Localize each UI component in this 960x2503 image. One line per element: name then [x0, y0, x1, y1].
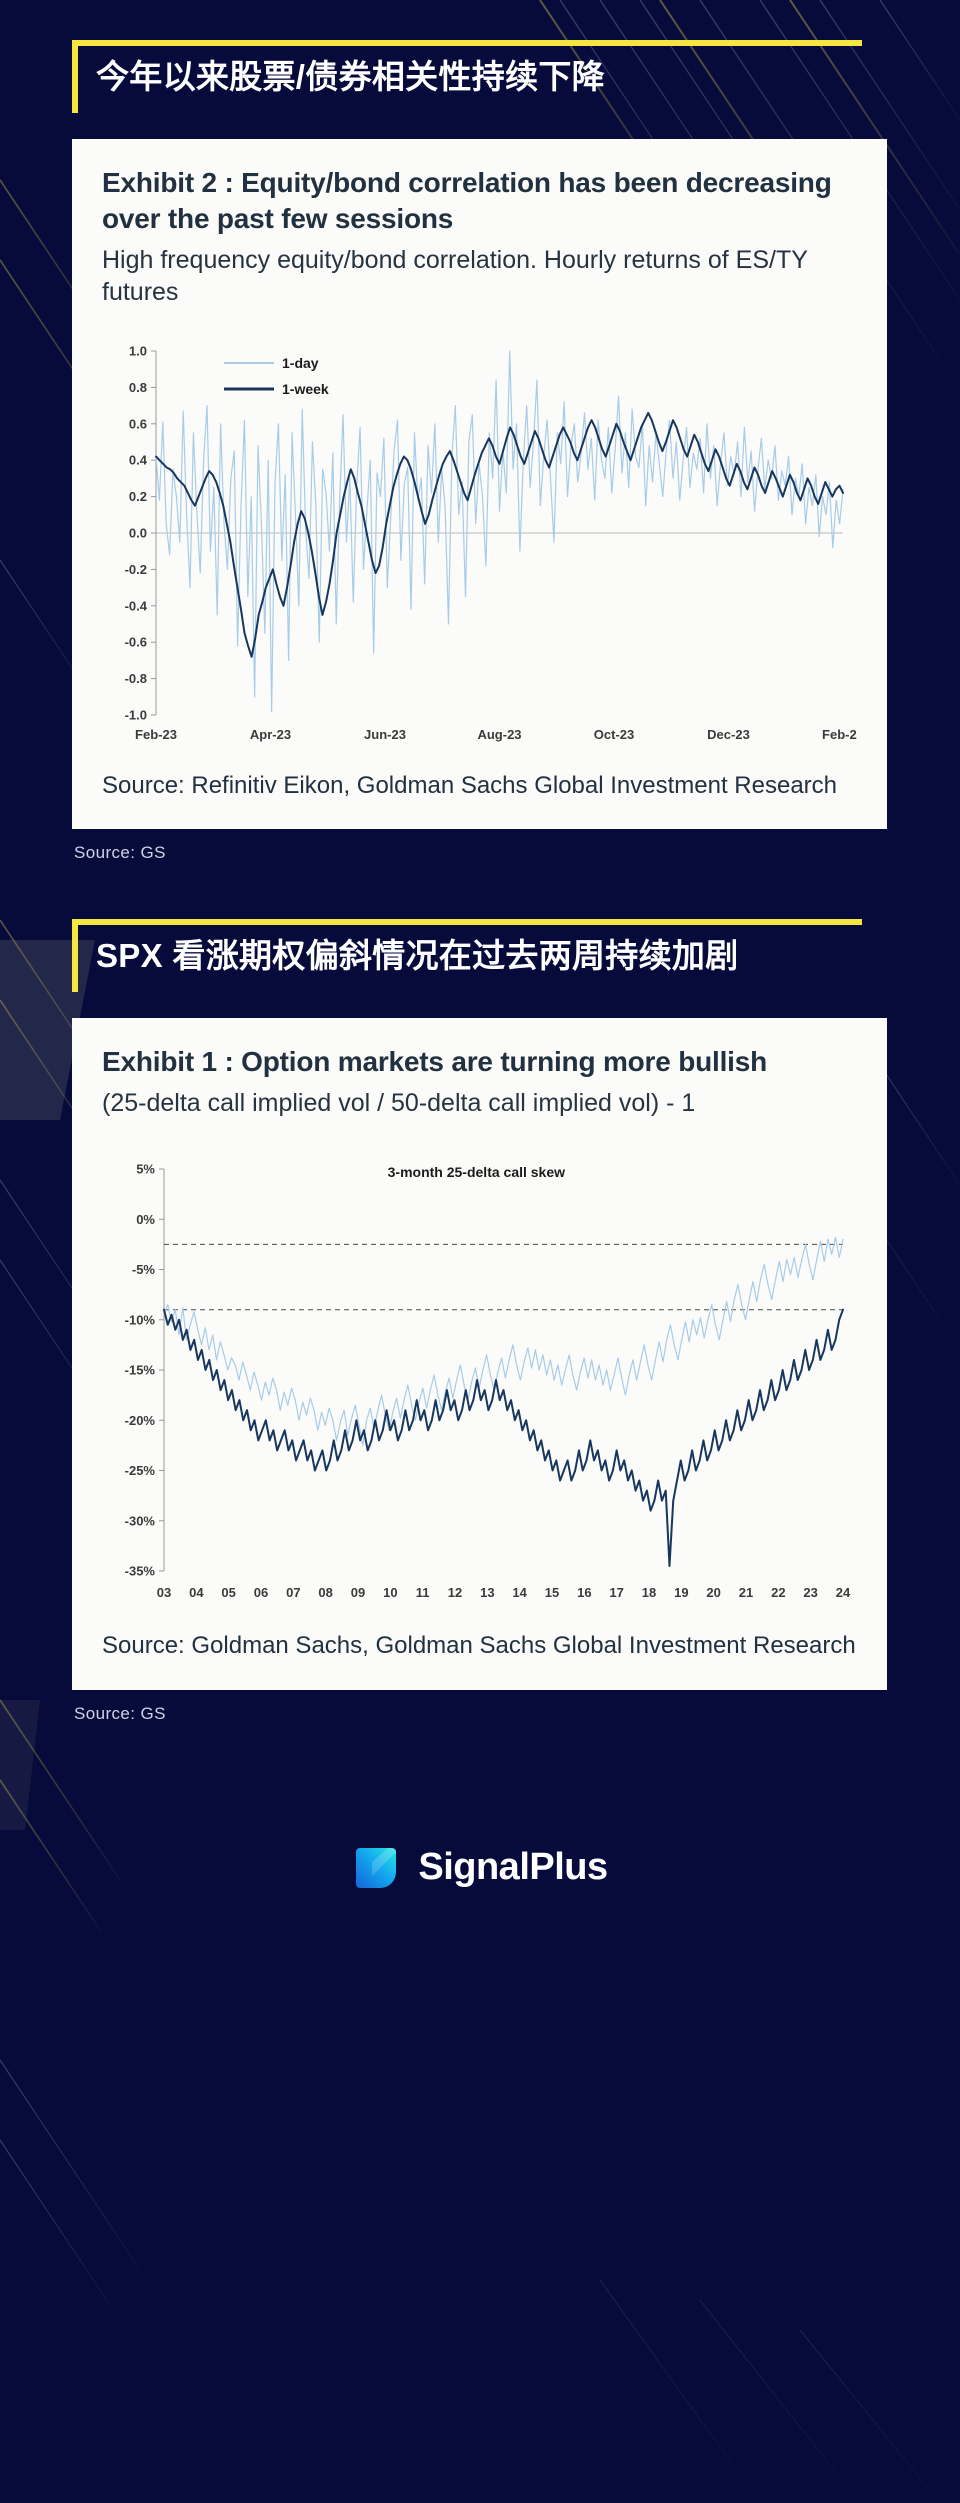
svg-text:08: 08	[318, 1585, 332, 1600]
svg-text:11: 11	[416, 1585, 430, 1600]
section-headline-1: 今年以来股票/债券相关性持续下降	[72, 40, 862, 113]
svg-text:-35%: -35%	[125, 1564, 156, 1579]
svg-text:10: 10	[383, 1585, 397, 1600]
svg-text:Jun-23: Jun-23	[364, 727, 406, 742]
brand-name: SignalPlus	[418, 1846, 607, 1889]
svg-text:0.4: 0.4	[129, 452, 148, 467]
headline-text: 今年以来股票/债券相关性持续下降	[96, 54, 862, 101]
svg-text:-25%: -25%	[125, 1463, 156, 1478]
signalplus-logo-icon	[352, 1842, 404, 1894]
svg-text:0.6: 0.6	[129, 416, 147, 431]
svg-text:-30%: -30%	[125, 1513, 156, 1528]
svg-text:07: 07	[286, 1585, 300, 1600]
svg-text:0.8: 0.8	[129, 380, 147, 395]
chart-canvas: 5%0%-5%-10%-15%-20%-25%-30%-35%030405060…	[102, 1145, 857, 1615]
exhibit-2-subtitle: High frequency equity/bond correlation. …	[102, 244, 857, 309]
svg-text:04: 04	[189, 1585, 204, 1600]
svg-text:3-month 25-delta call skew: 3-month 25-delta call skew	[388, 1164, 566, 1180]
svg-text:12: 12	[448, 1585, 462, 1600]
exhibit-1-source: Source: Goldman Sachs, Goldman Sachs Glo…	[102, 1631, 857, 1662]
source-note-2: Source: GS	[74, 1704, 960, 1724]
svg-text:-10%: -10%	[125, 1312, 156, 1327]
svg-text:1.0: 1.0	[129, 343, 147, 358]
section-equity-bond: 今年以来股票/债券相关性持续下降 Exhibit 2 : Equity/bond…	[0, 40, 960, 863]
svg-text:24: 24	[836, 1585, 851, 1600]
exhibit-1-card: Exhibit 1 : Option markets are turning m…	[72, 1018, 887, 1690]
svg-text:1-day: 1-day	[282, 355, 319, 371]
svg-text:-0.4: -0.4	[125, 598, 148, 613]
svg-text:-20%: -20%	[125, 1413, 156, 1428]
exhibit-1-title: Exhibit 1 : Option markets are turning m…	[102, 1044, 857, 1080]
svg-text:13: 13	[480, 1585, 494, 1600]
svg-text:21: 21	[739, 1585, 753, 1600]
exhibit-2-source: Source: Refinitiv Eikon, Goldman Sachs G…	[102, 771, 857, 802]
exhibit-1-subtitle: (25-delta call implied vol / 50-delta ca…	[102, 1087, 857, 1120]
svg-text:-1.0: -1.0	[125, 707, 147, 722]
svg-text:1-week: 1-week	[282, 381, 329, 397]
section-spx-skew: SPX 看涨期权偏斜情况在过去两周持续加剧 Exhibit 1 : Option…	[0, 919, 960, 1723]
svg-text:15: 15	[545, 1585, 559, 1600]
svg-text:Dec-23: Dec-23	[707, 727, 750, 742]
svg-text:Feb-24: Feb-24	[822, 727, 857, 742]
svg-text:19: 19	[674, 1585, 688, 1600]
chart-canvas: 1.00.80.60.40.20.0-0.2-0.4-0.6-0.8-1.0Fe…	[102, 335, 857, 755]
poster-page: 今年以来股票/债券相关性持续下降 Exhibit 2 : Equity/bond…	[0, 0, 960, 1948]
svg-text:03: 03	[157, 1585, 171, 1600]
exhibit-2-title: Exhibit 2 : Equity/bond correlation has …	[102, 165, 857, 238]
svg-text:0.2: 0.2	[129, 489, 147, 504]
section-headline-2: SPX 看涨期权偏斜情况在过去两周持续加剧	[72, 919, 862, 992]
svg-text:23: 23	[803, 1585, 817, 1600]
headline-text: SPX 看涨期权偏斜情况在过去两周持续加剧	[96, 933, 862, 980]
svg-text:14: 14	[512, 1585, 527, 1600]
svg-text:5%: 5%	[136, 1162, 155, 1177]
svg-text:22: 22	[771, 1585, 785, 1600]
svg-text:0%: 0%	[136, 1212, 155, 1227]
svg-text:06: 06	[254, 1585, 268, 1600]
svg-text:18: 18	[642, 1585, 656, 1600]
svg-text:Oct-23: Oct-23	[594, 727, 634, 742]
source-note-1: Source: GS	[74, 843, 960, 863]
exhibit-2-card: Exhibit 2 : Equity/bond correlation has …	[72, 139, 887, 830]
svg-text:Apr-23: Apr-23	[250, 727, 291, 742]
svg-text:-0.6: -0.6	[125, 634, 147, 649]
svg-text:17: 17	[609, 1585, 623, 1600]
svg-text:-0.2: -0.2	[125, 562, 147, 577]
svg-text:20: 20	[706, 1585, 720, 1600]
equity-bond-correlation-chart: 1.00.80.60.40.20.0-0.2-0.4-0.6-0.8-1.0Fe…	[102, 335, 857, 755]
svg-text:Feb-23: Feb-23	[135, 727, 177, 742]
svg-text:-5%: -5%	[132, 1262, 156, 1277]
svg-text:-0.8: -0.8	[125, 671, 147, 686]
spx-call-skew-chart: 5%0%-5%-10%-15%-20%-25%-30%-35%030405060…	[102, 1145, 857, 1615]
svg-text:16: 16	[577, 1585, 591, 1600]
svg-text:-15%: -15%	[125, 1363, 156, 1378]
svg-text:09: 09	[351, 1585, 365, 1600]
footer-branding: SignalPlus	[0, 1788, 960, 1948]
svg-text:Aug-23: Aug-23	[477, 727, 521, 742]
svg-text:0.0: 0.0	[129, 525, 147, 540]
svg-text:05: 05	[221, 1585, 235, 1600]
